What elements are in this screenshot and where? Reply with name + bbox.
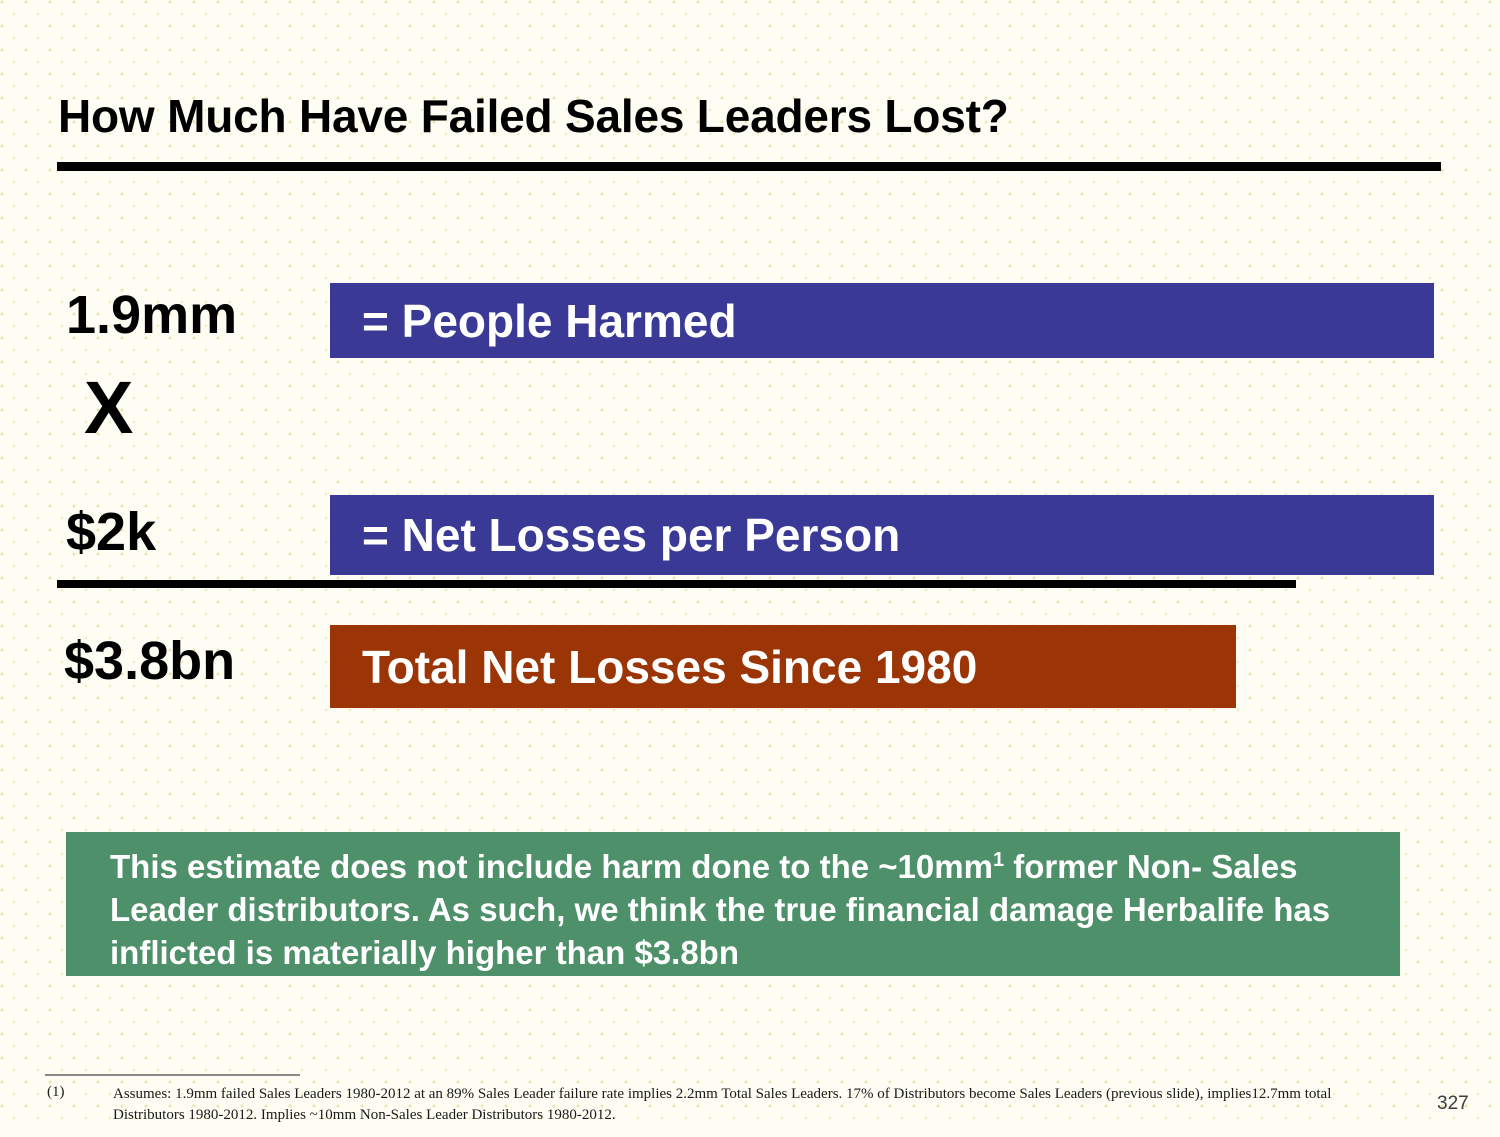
footnote-marker: (1) xyxy=(47,1084,65,1101)
footnote-separator-rule xyxy=(45,1074,300,1076)
bar-total-net-losses: Total Net Losses Since 1980 xyxy=(330,625,1236,708)
bar-net-losses-per-person-label: = Net Losses per Person xyxy=(362,508,900,562)
equation-sum-rule xyxy=(57,580,1296,588)
callout-text: This estimate does not include harm done… xyxy=(110,846,1372,975)
bar-people-harmed: = People Harmed xyxy=(330,283,1434,358)
slide-canvas: How Much Have Failed Sales Leaders Lost?… xyxy=(0,0,1500,1125)
page-title: How Much Have Failed Sales Leaders Lost? xyxy=(58,92,1009,140)
footnote-text: Assumes: 1.9mm failed Sales Leaders 1980… xyxy=(113,1084,1343,1127)
bar-total-net-losses-label: Total Net Losses Since 1980 xyxy=(362,640,977,694)
callout-line1-b: former Non- xyxy=(1004,848,1202,885)
equation-label-total-net-losses: $3.8bn xyxy=(64,634,235,688)
callout-line1-a: This estimate does not include harm done… xyxy=(110,848,993,885)
equation-label-people-count: 1.9mm xyxy=(66,288,237,342)
equation-label-net-loss-per-person: $2k xyxy=(66,505,156,559)
title-underline-rule xyxy=(57,162,1441,171)
bar-people-harmed-label: = People Harmed xyxy=(362,294,737,348)
page-number: 327 xyxy=(1437,1093,1469,1115)
equation-operator-multiply: X xyxy=(84,371,133,445)
callout-box-estimate-caveat: This estimate does not include harm done… xyxy=(66,832,1400,976)
callout-footnote-superscript: 1 xyxy=(993,849,1004,871)
bar-net-losses-per-person: = Net Losses per Person xyxy=(330,495,1434,575)
